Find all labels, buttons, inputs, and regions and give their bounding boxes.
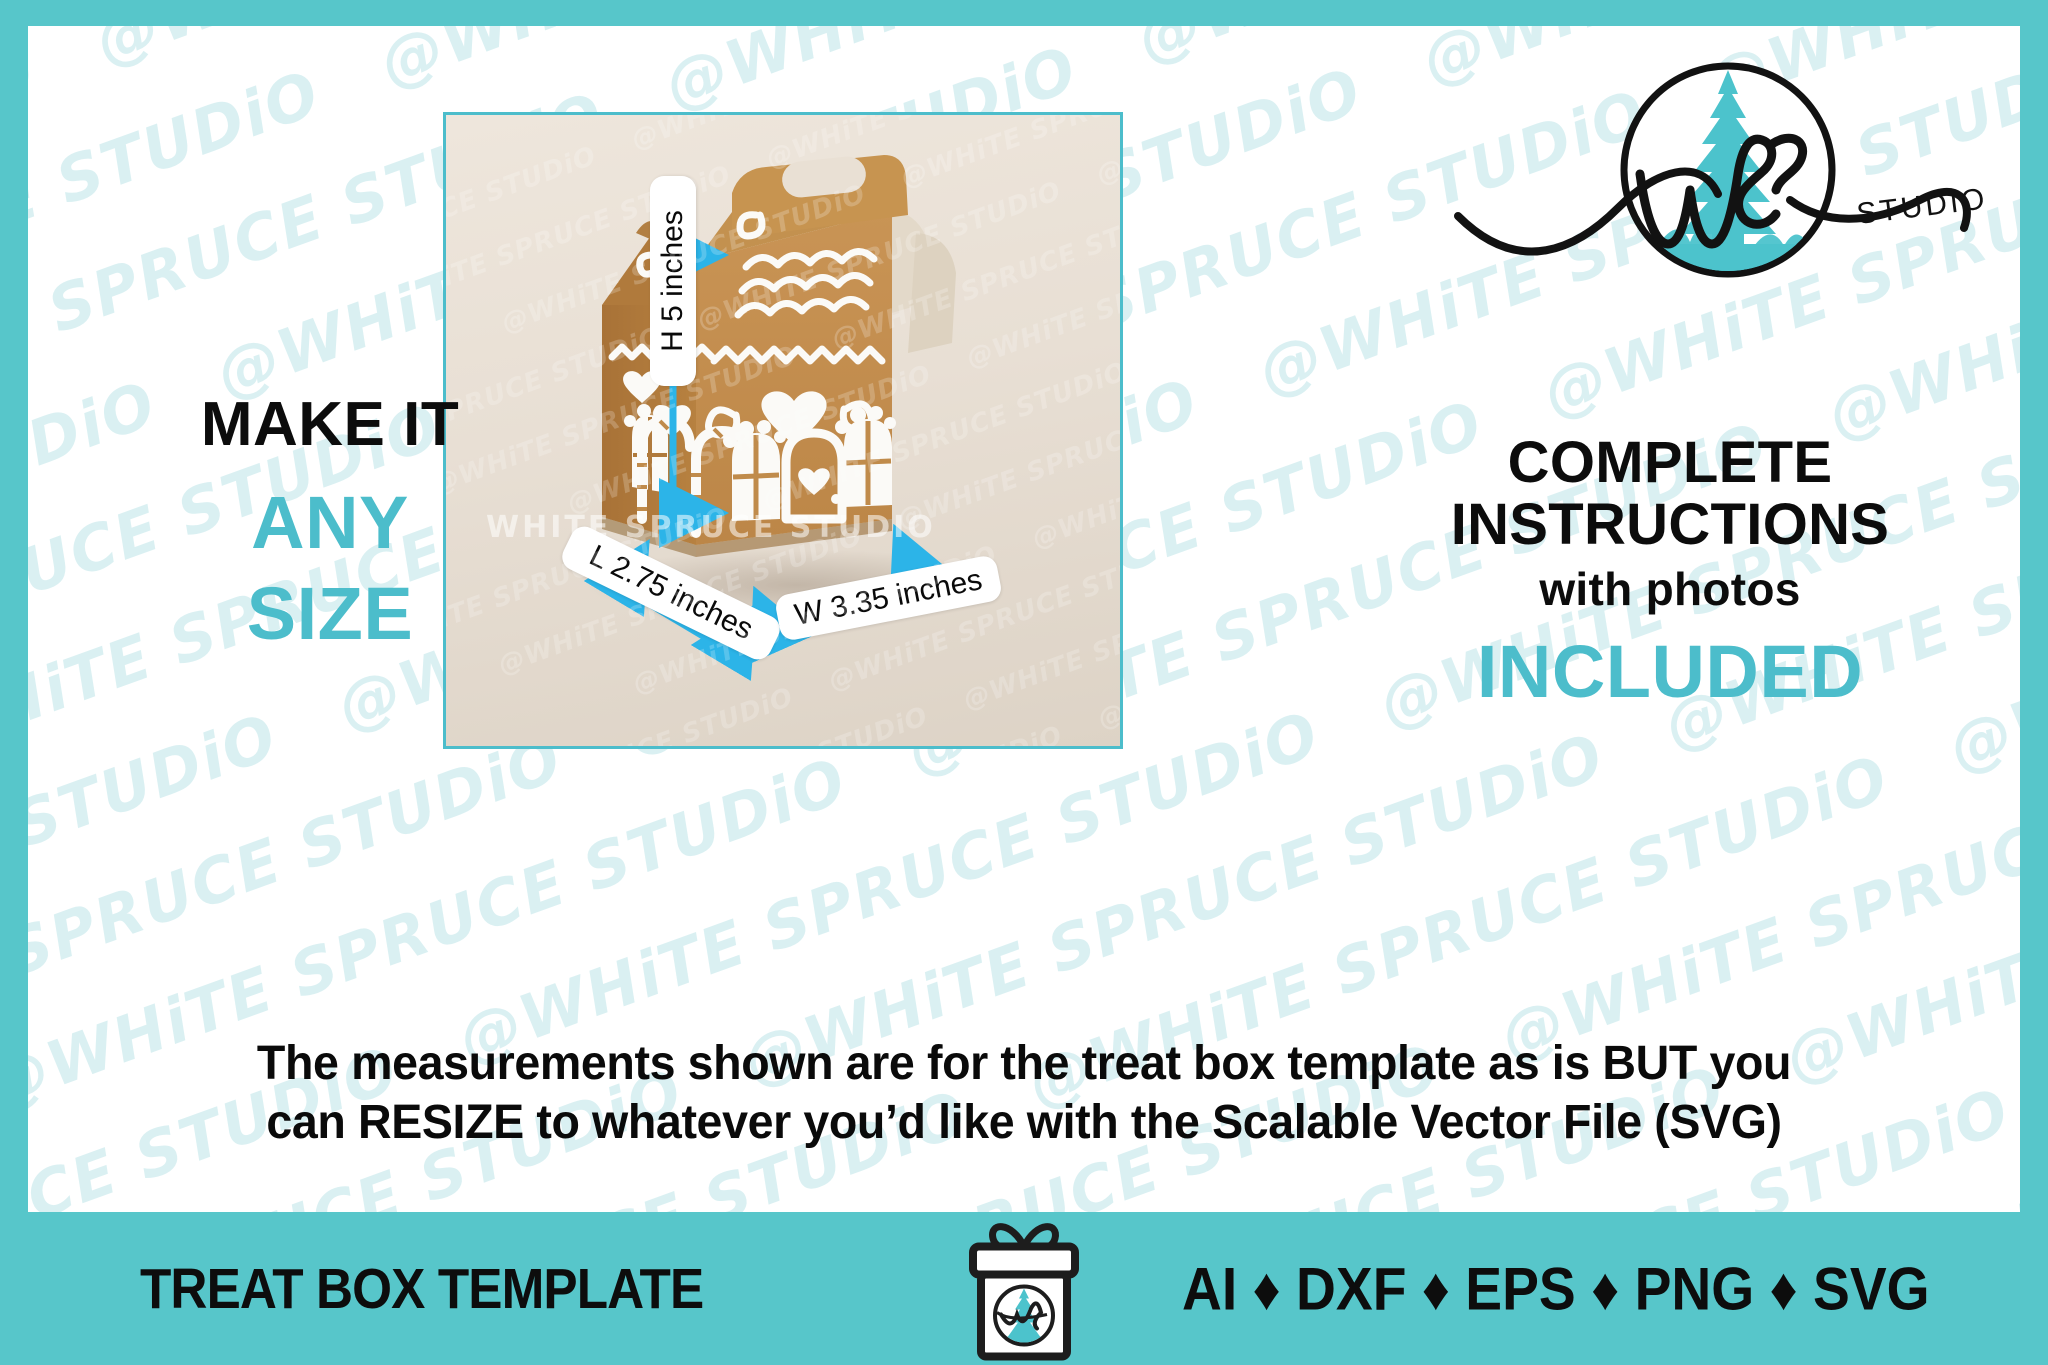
headline-any: ANY	[115, 482, 545, 565]
ws-studio-logo-svg: STUDIO	[1450, 48, 2010, 300]
frame-right-border	[2020, 0, 2048, 1365]
headline-complete: COMPLETE	[1350, 432, 1990, 494]
product-listing-image: @WHiTE SPRUCE STUDiO@WHiTE SPRUCE STUDiO…	[0, 0, 2048, 1365]
footer-formats: AI ♦ DXF ♦ EPS ♦ PNG ♦ SVG	[1182, 1254, 1930, 1323]
gift-box-icon	[965, 1216, 1083, 1361]
headline-with-photos: with photos	[1350, 562, 1990, 617]
footer-product-label: TREAT BOX TEMPLATE	[140, 1256, 703, 1322]
caption-line-1: The measurements shown are for the treat…	[89, 1035, 1959, 1094]
headline-size: SIZE	[115, 573, 545, 656]
brand-logo: STUDIO	[1450, 48, 2010, 300]
caption-block: The measurements shown are for the treat…	[89, 1035, 1959, 1152]
footer-bar: TREAT BOX TEMPLATE AI	[0, 1212, 2048, 1365]
measurement-height: H 5 inches	[650, 176, 696, 386]
measurement-arrows	[446, 115, 1120, 746]
product-photo: @WHiTE SPRUCE STUDiO@WHiTE SPRUCE STUDiO…	[443, 112, 1123, 749]
headline-instructions: INSTRUCTIONS	[1350, 494, 1990, 556]
right-headline-block: COMPLETE INSTRUCTIONS with photos INCLUD…	[1350, 432, 1990, 713]
headline-included: INCLUDED	[1350, 631, 1990, 712]
headline-make-it: MAKE IT	[115, 392, 545, 458]
left-headline-block: MAKE IT ANY SIZE	[115, 392, 545, 655]
caption-line-2: can RESIZE to whatever you’d like with t…	[89, 1094, 1959, 1153]
frame-top-border	[0, 0, 2048, 26]
frame-left-border	[0, 0, 28, 1365]
